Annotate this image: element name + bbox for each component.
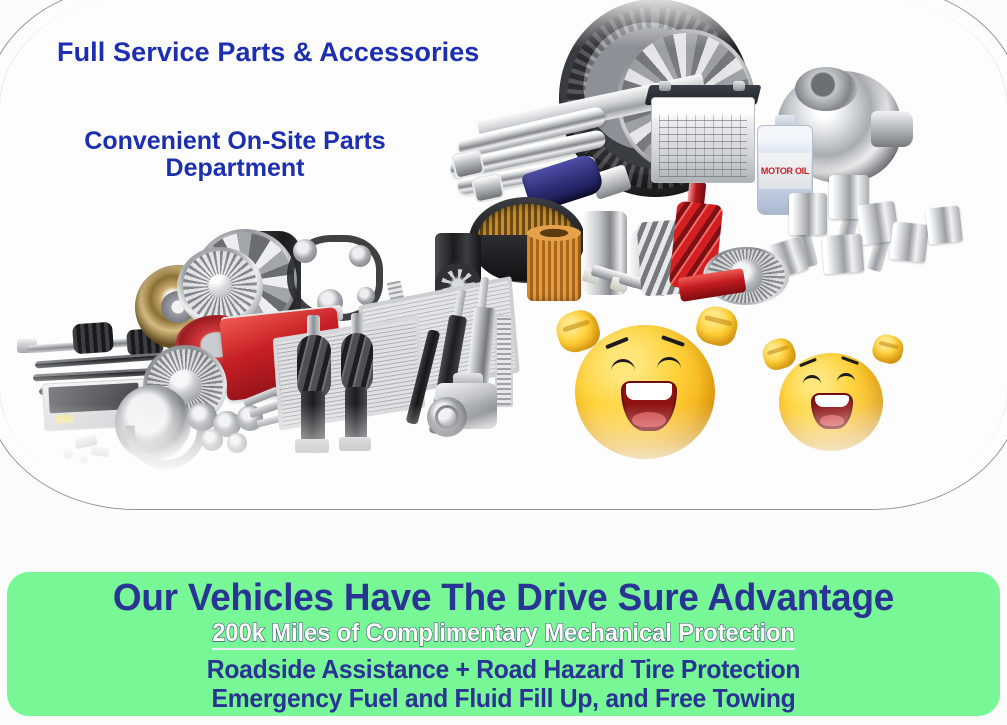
emoji-teeth-icon	[815, 395, 848, 407]
parts-department-panel: MOTOR OIL	[0, 0, 1007, 510]
advantage-headline: Our Vehicles Have The Drive Sure Advanta…	[22, 579, 985, 619]
cartridge-oil-filter-icon	[527, 231, 581, 301]
advantage-benefit-line-2: Emergency Fuel and Fluid Fill Up, and Fr…	[32, 684, 975, 713]
strut-coil-spring-icon	[297, 335, 331, 399]
laughing-emoji-small-icon	[757, 333, 903, 455]
strut-coil-spring-icon	[341, 333, 373, 393]
drive-sure-advantage-banner: Our Vehicles Have The Drive Sure Advanta…	[7, 572, 1000, 716]
emoji-tongue-icon	[820, 415, 844, 426]
battery-terminal-icon	[659, 81, 671, 91]
pulley-icon	[293, 239, 317, 263]
wheel-hub-icon	[201, 429, 223, 451]
piston-icon	[889, 221, 929, 263]
emoji-tongue-icon	[632, 412, 665, 428]
advantage-benefit-line-1: Roadside Assistance + Road Hazard Tire P…	[32, 655, 975, 684]
auto-parts-collage: MOTOR OIL	[0, 0, 1007, 509]
turbo-outlet-icon	[871, 111, 913, 147]
battery-terminal-icon	[733, 81, 745, 91]
laughing-emoji-large-icon	[549, 303, 735, 463]
motor-oil-label: MOTOR OIL	[759, 153, 811, 189]
piston-icon	[789, 193, 827, 235]
strut-body-icon	[301, 391, 325, 443]
battery-grid-icon	[659, 115, 747, 177]
emoji-teeth-icon	[626, 383, 672, 400]
piston-icon	[822, 234, 865, 275]
advantage-coverage-line: 200k Miles of Complimentary Mechanical P…	[212, 620, 795, 651]
hardware-bit-icon	[90, 446, 109, 457]
strut-mount-icon	[339, 437, 371, 451]
hardware-bit-icon	[63, 449, 73, 459]
emoji-fist-icon	[870, 332, 906, 366]
promo-banner-page: MOTOR OIL	[0, 0, 1007, 725]
filter-tab-icon	[55, 415, 73, 424]
ac-pulley-ring-icon	[435, 405, 459, 429]
wiper-blade-icon	[35, 353, 163, 369]
radiator-side-tank-icon	[495, 315, 513, 407]
wheel-hub-icon	[227, 433, 247, 453]
parts-headline-secondary: Convenient On-Site Parts Department	[45, 128, 425, 182]
piston-icon	[925, 205, 963, 244]
strut-mount-icon	[295, 439, 329, 453]
emoji-fist-icon	[693, 303, 741, 350]
pressure-plate-fingers-icon	[183, 251, 257, 321]
cartridge-filter-top-icon	[527, 225, 581, 241]
turbo-inlet-icon	[795, 67, 857, 111]
pulley-icon	[349, 245, 371, 267]
exhaust-tip-icon	[471, 172, 506, 204]
cv-boot-icon	[72, 322, 114, 355]
parts-headline-primary: Full Service Parts & Accessories	[57, 37, 479, 68]
hardware-bit-icon	[79, 455, 88, 464]
strut-body-icon	[345, 387, 367, 443]
